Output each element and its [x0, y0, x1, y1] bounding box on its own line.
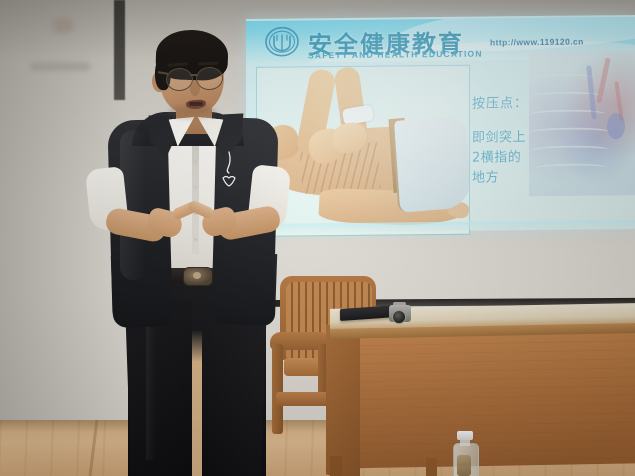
presenter-leg-gap [192, 330, 202, 476]
presenter [0, 0, 635, 476]
belt-buckle-center [193, 272, 201, 279]
presenter-chin-shadow [168, 105, 216, 119]
vest-chest-logo-icon [218, 150, 240, 190]
glasses-bridge [190, 74, 198, 76]
photo-scene: 安全健康教育 SAFETY AND HEALTH EDUCATION http:… [0, 0, 635, 476]
presenter-nose [190, 80, 200, 96]
shirt-button [194, 238, 197, 241]
shirt-placket [192, 134, 199, 254]
shirt-button [194, 186, 197, 189]
shirt-button [194, 160, 197, 163]
